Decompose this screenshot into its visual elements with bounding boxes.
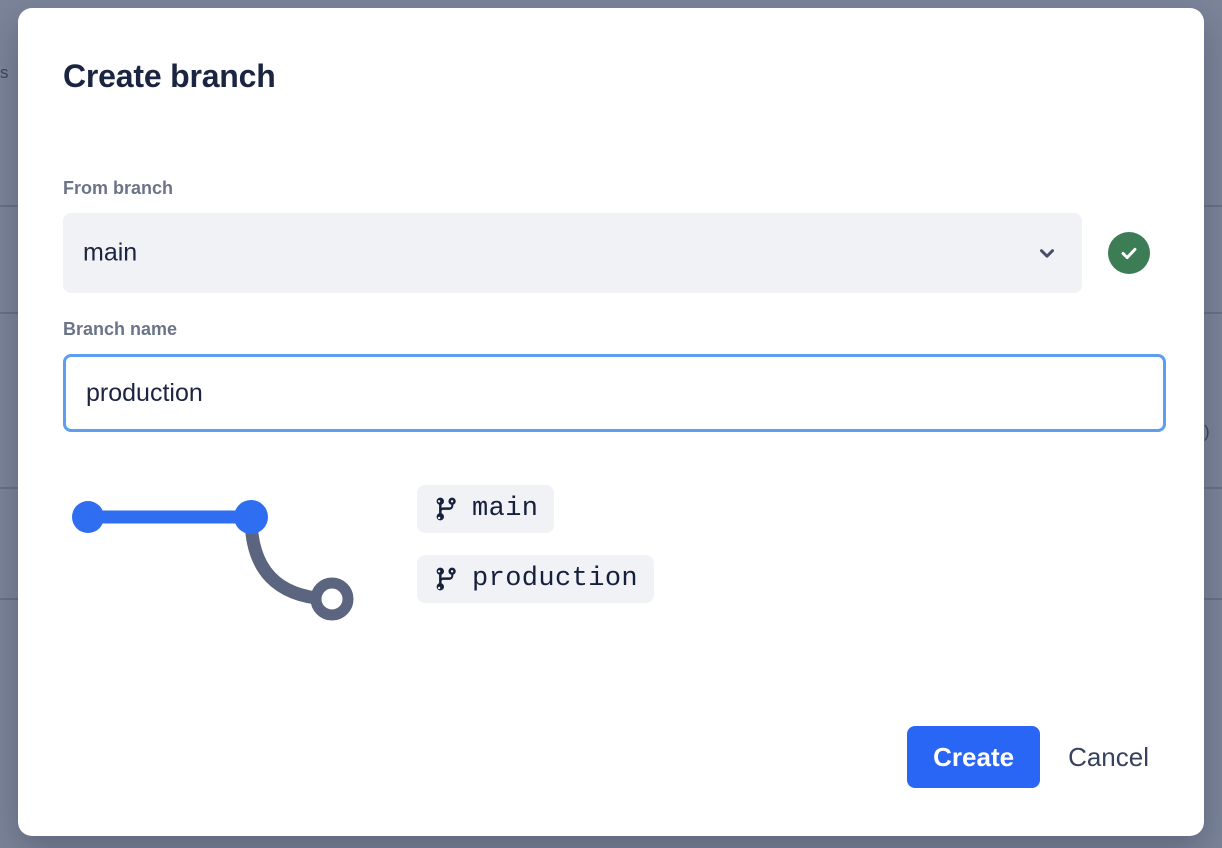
from-branch-value: main bbox=[83, 239, 137, 268]
branch-graph bbox=[63, 476, 433, 636]
branch-chip-label: main bbox=[472, 494, 538, 524]
dialog-title: Create branch bbox=[63, 58, 276, 95]
validation-status-badge bbox=[1108, 232, 1150, 274]
cancel-button[interactable]: Cancel bbox=[1054, 726, 1163, 788]
branch-chip-label: production bbox=[472, 564, 638, 594]
from-branch-row: main bbox=[63, 213, 1166, 293]
chevron-down-icon[interactable] bbox=[1036, 242, 1058, 264]
git-branch-icon bbox=[433, 496, 459, 522]
from-branch-select[interactable]: main bbox=[63, 213, 1082, 293]
git-branch-icon bbox=[433, 566, 459, 592]
check-icon bbox=[1118, 242, 1140, 264]
branch-name-input[interactable] bbox=[63, 354, 1166, 432]
branch-name-label: Branch name bbox=[63, 319, 177, 340]
commit-node-2 bbox=[234, 500, 268, 534]
dialog-actions: Create Cancel bbox=[907, 726, 1163, 788]
commit-node-1 bbox=[72, 501, 104, 533]
branch-chip-production: production bbox=[417, 555, 654, 603]
background-text-left: s bbox=[0, 63, 9, 83]
create-button[interactable]: Create bbox=[907, 726, 1040, 788]
branch-chip-list: main production bbox=[417, 485, 654, 603]
branch-chip-main: main bbox=[417, 485, 554, 533]
create-branch-dialog: Create branch From branch main Branch na… bbox=[18, 8, 1204, 836]
from-branch-label: From branch bbox=[63, 178, 173, 199]
background-text-right: ) bbox=[1204, 422, 1210, 442]
new-branch-node bbox=[316, 583, 348, 615]
